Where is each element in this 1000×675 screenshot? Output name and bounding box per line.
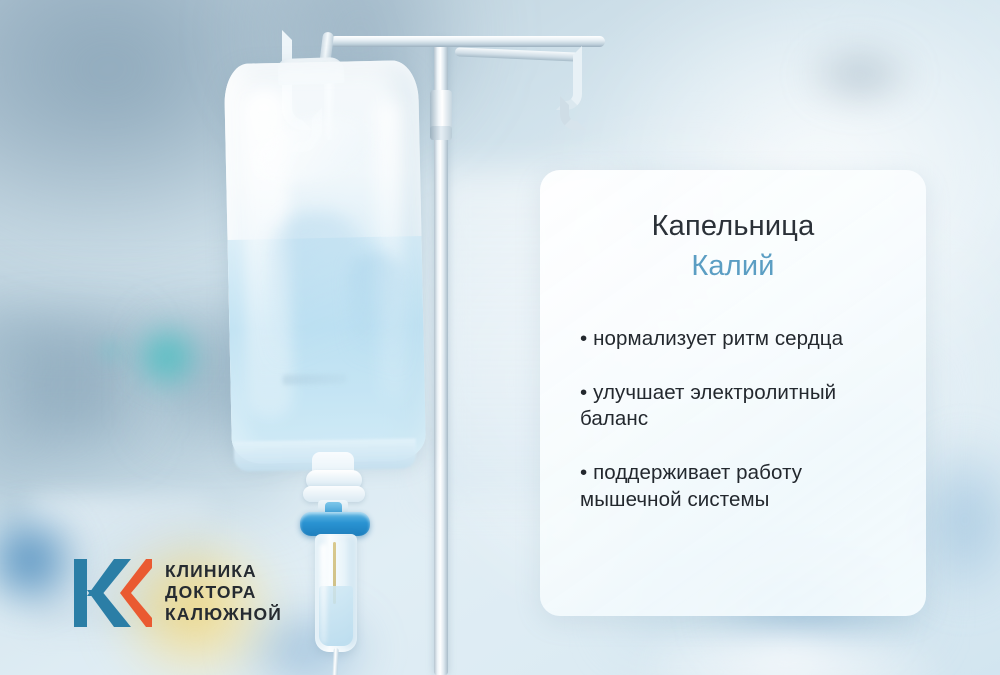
- info-card: Капельница Калий • нормализует ритм серд…: [540, 170, 926, 616]
- clinic-logo: КЛИНИКА ДОКТОРА КАЛЮЖНОЙ: [74, 556, 282, 630]
- clinic-logo-text: КЛИНИКА ДОКТОРА КАЛЮЖНОЙ: [165, 561, 282, 626]
- iv-bag-fold-right: [348, 250, 405, 401]
- logo-line-3: КАЛЮЖНОЙ: [165, 604, 282, 626]
- card-title: Капельница: [566, 208, 900, 244]
- promo-banner: Капельница Калий • нормализует ритм серд…: [0, 0, 1000, 675]
- iv-tubing: [332, 648, 339, 675]
- bg-blur-dark-top-right: [800, 40, 920, 110]
- iv-pole-collar-lower: [430, 126, 452, 140]
- list-item: • поддерживает работу мышечной системы: [580, 460, 900, 513]
- logo-line-1: КЛИНИКА: [165, 561, 282, 583]
- iv-hook-right-lower: [560, 96, 586, 130]
- kk-monogram-icon: [74, 556, 152, 630]
- benefits-list: • нормализует ритм сердца • улучшает эле…: [566, 326, 900, 513]
- list-item: • нормализует ритм сердца: [580, 326, 900, 353]
- card-subtitle: Калий: [566, 248, 900, 286]
- list-item: • улучшает электролитный баланс: [580, 380, 900, 433]
- iv-drip-chamber: [315, 534, 357, 652]
- iv-drip-chamber-highlight: [320, 544, 327, 644]
- logo-line-2: ДОКТОРА: [165, 582, 282, 604]
- iv-blue-cap: [300, 512, 370, 536]
- iv-fluid-bag: [224, 60, 426, 464]
- iv-bag-label-print: [282, 374, 346, 385]
